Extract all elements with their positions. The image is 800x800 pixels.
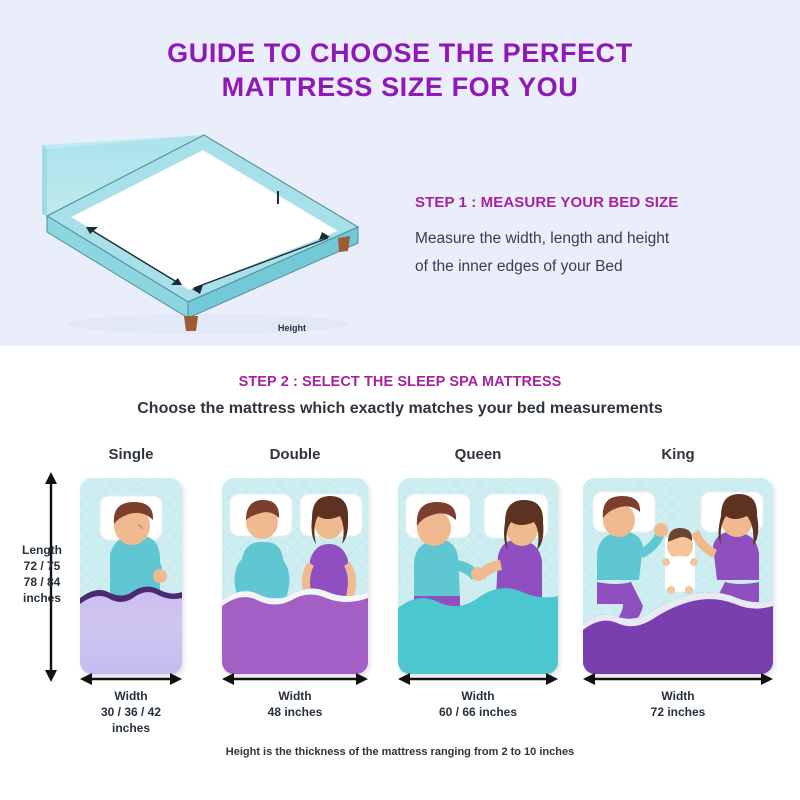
width-label-king: Width 72 inches (588, 688, 768, 720)
blanket-single (80, 586, 182, 674)
length-arrow-up (45, 472, 57, 484)
width-arrow-queen (398, 672, 558, 686)
step-1-heading: STEP 1 : MEASURE YOUR BED SIZE (415, 194, 775, 211)
width-title-double: Width (212, 688, 378, 704)
bed-svg (28, 132, 376, 337)
mattress-illustration-king (583, 478, 773, 674)
bed-leg-front (184, 316, 198, 331)
bottom-section: STEP 2 : SELECT THE SLEEP SPA MATTRESS C… (0, 346, 800, 800)
person-queen-man-torso (414, 540, 460, 598)
mattress-comparison: Length 72 / 75 78 / 84 inches Single (0, 346, 800, 800)
width-label-double: Width 48 inches (212, 688, 378, 720)
mattress-illustration-single (80, 478, 182, 674)
length-arrow-down (45, 670, 57, 682)
width-value-single: 30 / 36 / 42 (60, 704, 202, 720)
footnote: Height is the thickness of the mattress … (0, 746, 800, 758)
mattress-card-double[interactable] (222, 478, 368, 674)
length-scale-label: Length 72 / 75 78 / 84 inches (0, 542, 84, 606)
step-1-block: STEP 1 : MEASURE YOUR BED SIZE Measure t… (415, 194, 775, 281)
step-1-body-line-1: Measure the width, length and height (415, 225, 775, 253)
width-unit-single: inches (60, 720, 202, 736)
width-title-queen: Width (388, 688, 568, 704)
mattress-title-single: Single (80, 446, 182, 463)
headboard-left-edge (42, 145, 47, 216)
baby-body (667, 556, 693, 582)
bed-shadow (68, 314, 348, 334)
width-title-king: Width (588, 688, 768, 704)
width-arrow-single (80, 672, 182, 686)
bed-illustration: Height Length Width (28, 132, 376, 337)
person-single-hand (153, 569, 167, 583)
width-label-queen: Width 60 / 66 inches (388, 688, 568, 720)
length-scale-value-2: 78 / 84 (0, 574, 84, 590)
title-line-2: MATTRESS SIZE FOR YOU (0, 70, 800, 104)
mattress-illustration-double (222, 478, 368, 674)
person-king-man-hand (654, 523, 668, 537)
length-scale-value-1: 72 / 75 (0, 558, 84, 574)
mattress-card-queen[interactable] (398, 478, 558, 674)
person-king-man-torso (597, 532, 643, 580)
width-arrow-king (583, 672, 773, 686)
mattress-title-queen: Queen (398, 446, 558, 463)
mattress-illustration-queen (398, 478, 558, 674)
bed-leg-right (338, 236, 350, 252)
width-label-single: Width 30 / 36 / 42 inches (60, 688, 202, 736)
title-line-1: GUIDE TO CHOOSE THE PERFECT (0, 36, 800, 70)
width-value-king: 72 inches (588, 704, 768, 720)
width-arrow-double (222, 672, 368, 686)
blanket-queen (398, 588, 558, 674)
width-value-double: 48 inches (212, 704, 378, 720)
mattress-card-single[interactable] (80, 478, 182, 674)
bed-height-label: Height (278, 323, 306, 333)
mattress-title-double: Double (222, 446, 368, 463)
width-value-queen: 60 / 66 inches (388, 704, 568, 720)
width-title-single: Width (60, 688, 202, 704)
mattress-card-king[interactable] (583, 478, 773, 674)
mattress-title-king: King (583, 446, 773, 463)
length-scale-title: Length (0, 542, 84, 558)
length-scale-unit: inches (0, 590, 84, 606)
step-1-body-line-2: of the inner edges of your Bed (415, 253, 775, 281)
top-section: GUIDE TO CHOOSE THE PERFECT MATTRESS SIZ… (0, 0, 800, 346)
page-title: GUIDE TO CHOOSE THE PERFECT MATTRESS SIZ… (0, 36, 800, 104)
